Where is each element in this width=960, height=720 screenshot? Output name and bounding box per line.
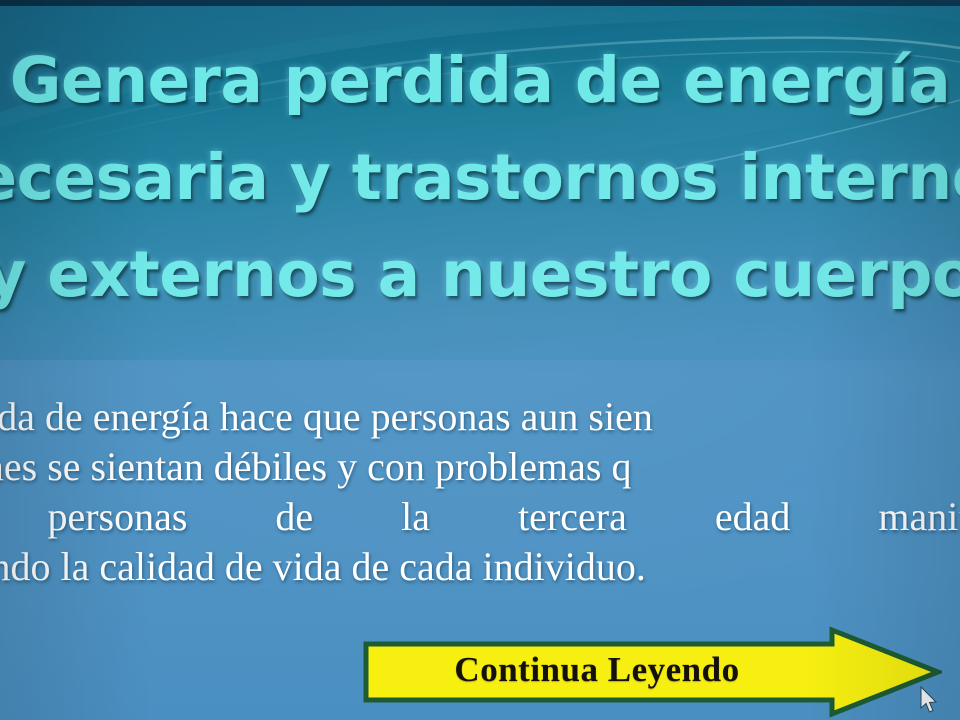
body-word: de bbox=[275, 492, 313, 542]
title-line-1: Genera perdida de energía bbox=[0, 32, 960, 129]
continue-reading-button[interactable]: Continua Leyendo bbox=[362, 626, 942, 718]
slide-body-text: perdida de energía hace que personas aun… bbox=[0, 392, 960, 592]
continue-reading-label: Continua Leyendo bbox=[362, 650, 832, 690]
body-word: la bbox=[401, 492, 430, 542]
body-line-4: riorando la calidad de vida de cada indi… bbox=[0, 542, 960, 592]
body-word: tercera bbox=[518, 492, 627, 542]
body-word: manifiesta bbox=[878, 492, 960, 542]
body-line-1: perdida de energía hace que personas aun… bbox=[0, 392, 960, 442]
presentation-slide: Genera perdida de energía necesaria y tr… bbox=[0, 0, 960, 720]
top-accent-bar bbox=[0, 0, 960, 6]
mouse-cursor-icon bbox=[920, 686, 940, 716]
title-line-3: y externos a nuestro cuerpo bbox=[0, 226, 960, 323]
body-word: edad bbox=[715, 492, 791, 542]
body-word: personas bbox=[47, 492, 187, 542]
body-line-2: jóvenes se sientan débiles y con problem… bbox=[0, 442, 960, 492]
slide-title: Genera perdida de energía necesaria y tr… bbox=[0, 32, 960, 323]
title-line-2: necesaria y trastornos internos bbox=[0, 129, 960, 226]
body-line-3: las personas de la tercera edad manifies… bbox=[0, 492, 960, 542]
